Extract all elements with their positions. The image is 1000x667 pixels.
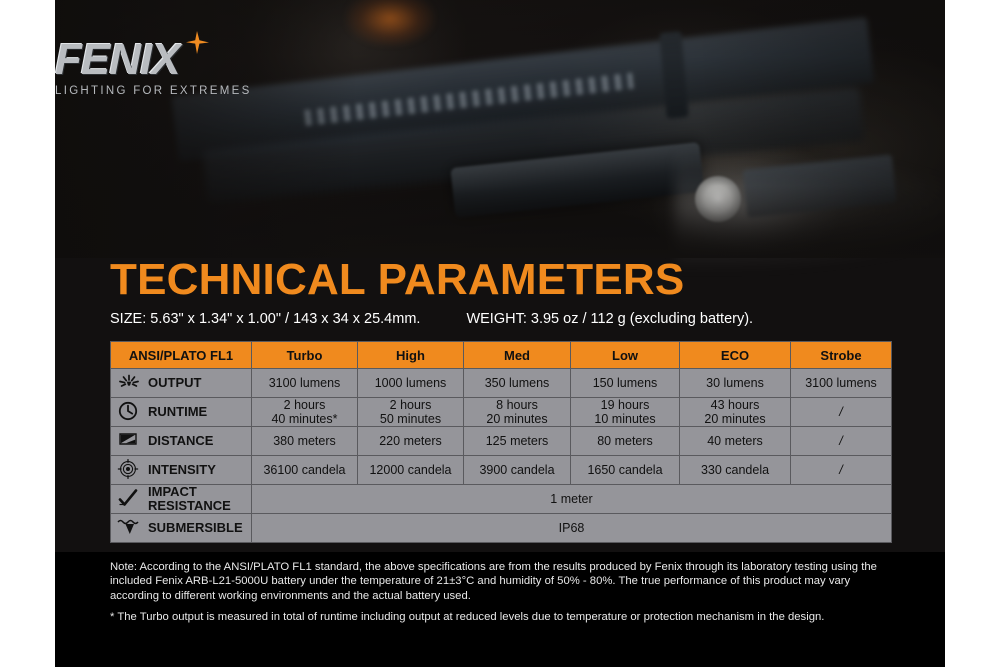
cell-impact-resistance-value: 1 meter — [252, 485, 891, 513]
table-row-distance: DISTANCE 380 meters 220 meters 125 meter… — [111, 427, 891, 455]
row-label-text: IMPACTRESISTANCE — [148, 485, 231, 512]
row-label-text: SUBMERSIBLE — [148, 521, 243, 535]
column-header-eco: ECO — [680, 342, 790, 368]
row-label-submersible: SUBMERSIBLE — [111, 514, 251, 542]
cell-distance-strobe: / — [791, 427, 891, 455]
beam-distance-icon — [117, 429, 143, 451]
brand-wordmark: FENIX — [55, 38, 275, 82]
cell-runtime-turbo: 2 hours 40 minutes* — [252, 398, 357, 426]
table-row-output: OUTPUT 3100 lumens 1000 lumens 350 lumen… — [111, 369, 891, 397]
cell-runtime-low: 19 hours 10 minutes — [571, 398, 679, 426]
cell-distance-high: 220 meters — [358, 427, 463, 455]
table-row-runtime: RUNTIME 2 hours 40 minutes* 2 hours 50 m… — [111, 398, 891, 426]
cell-intensity-med: 3900 candela — [464, 456, 570, 484]
cell-runtime-high: 2 hours 50 minutes — [358, 398, 463, 426]
cell-intensity-low: 1650 candela — [571, 456, 679, 484]
table-header-row: ANSI/PLATO FL1 Turbo High Med Low ECO St… — [111, 342, 891, 368]
technical-parameters-table: ANSI/PLATO FL1 Turbo High Med Low ECO St… — [110, 341, 892, 543]
table-row-submersible: SUBMERSIBLE IP68 — [111, 514, 891, 542]
cell-submersible-value: IP68 — [252, 514, 891, 542]
table-row-impact-resistance: IMPACTRESISTANCE 1 meter — [111, 485, 891, 513]
cell-output-turbo: 3100 lumens — [252, 369, 357, 397]
column-header-turbo: Turbo — [252, 342, 357, 368]
column-header-standard: ANSI/PLATO FL1 — [111, 342, 251, 368]
fenix-logo: FENIX LIGHTING FOR EXTREMES — [55, 38, 275, 97]
cell-distance-eco: 40 meters — [680, 427, 790, 455]
row-label-text: DISTANCE — [148, 434, 213, 448]
value-line1: 2 hours — [390, 398, 432, 412]
cell-intensity-eco: 330 candela — [680, 456, 790, 484]
cell-output-eco: 30 lumens — [680, 369, 790, 397]
table-row-intensity: INTENSITY 36100 candela 12000 candela 39… — [111, 456, 891, 484]
cell-distance-med: 125 meters — [464, 427, 570, 455]
row-label-distance: DISTANCE — [111, 427, 251, 455]
brand-tagline: LIGHTING FOR EXTREMES — [55, 85, 275, 97]
sun-burst-icon — [117, 371, 143, 393]
weight-text: WEIGHT: 3.95 oz / 112 g (excluding batte… — [466, 311, 753, 327]
cell-distance-low: 80 meters — [571, 427, 679, 455]
size-text: SIZE: 5.63" x 1.34" x 1.00" / 143 x 34 x… — [110, 311, 420, 327]
row-label-line2: RESISTANCE — [148, 498, 231, 513]
cell-output-med: 350 lumens — [464, 369, 570, 397]
value-line2: 50 minutes — [380, 412, 441, 426]
value-line1: 43 hours — [711, 398, 760, 412]
value-line2: 10 minutes — [594, 412, 655, 426]
cell-intensity-high: 12000 candela — [358, 456, 463, 484]
row-label-text: RUNTIME — [148, 405, 207, 419]
cell-output-low: 150 lumens — [571, 369, 679, 397]
row-label-impact-resistance: IMPACTRESISTANCE — [111, 485, 251, 513]
column-header-low: Low — [571, 342, 679, 368]
column-header-med: Med — [464, 342, 570, 368]
impact-resistance-icon — [117, 487, 143, 509]
value-line2: 20 minutes — [486, 412, 547, 426]
note-main: Note: According to the ANSI/PLATO FL1 st… — [110, 560, 900, 603]
cell-output-high: 1000 lumens — [358, 369, 463, 397]
value-line1: 2 hours — [284, 398, 326, 412]
note-asterisk: * The Turbo output is measured in total … — [110, 610, 900, 624]
column-header-high: High — [358, 342, 463, 368]
target-intensity-icon — [117, 458, 143, 480]
cell-output-strobe: 3100 lumens — [791, 369, 891, 397]
row-label-output: OUTPUT — [111, 369, 251, 397]
column-header-strobe: Strobe — [791, 342, 891, 368]
cell-intensity-turbo: 36100 candela — [252, 456, 357, 484]
submersible-icon — [117, 516, 143, 538]
value-line2: 20 minutes — [704, 412, 765, 426]
value-line1: 8 hours — [496, 398, 538, 412]
cell-runtime-strobe: / — [791, 398, 891, 426]
cell-intensity-strobe: / — [791, 456, 891, 484]
row-label-intensity: INTENSITY — [111, 456, 251, 484]
value-line1: 19 hours — [601, 398, 650, 412]
product-spec-sheet: FENIX LIGHTING FOR EXTREMES TECHNICAL PA… — [0, 0, 1000, 667]
cell-distance-turbo: 380 meters — [252, 427, 357, 455]
row-label-text: INTENSITY — [148, 463, 216, 477]
row-label-runtime: RUNTIME — [111, 398, 251, 426]
cell-runtime-eco: 43 hours 20 minutes — [680, 398, 790, 426]
clock-icon — [117, 400, 143, 422]
row-label-text: OUTPUT — [148, 376, 201, 390]
cell-runtime-med: 8 hours 20 minutes — [464, 398, 570, 426]
value-line2: 40 minutes* — [271, 412, 337, 426]
page-title: TECHNICAL PARAMETERS — [110, 258, 684, 302]
size-weight-line: SIZE: 5.63" x 1.34" x 1.00" / 143 x 34 x… — [110, 311, 753, 327]
